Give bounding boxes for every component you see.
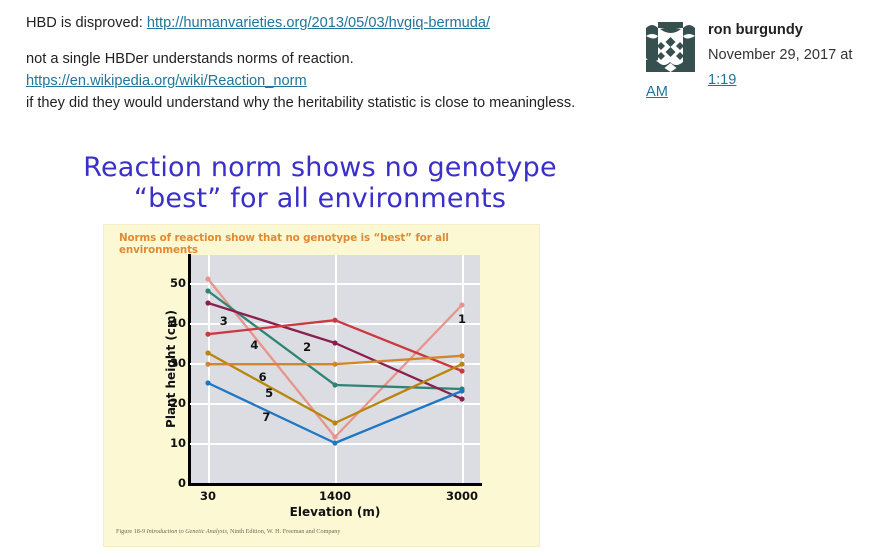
comment-text-body: HBD is disproved: http://humanvarieties.… [26, 12, 626, 128]
comment-date: November 29, 2017 at 1:19 [708, 43, 878, 93]
comment-permalink-time-tail[interactable]: AM [646, 80, 668, 105]
y-axis-tick-label: 50 [126, 276, 186, 290]
series-point-7 [205, 380, 210, 385]
reaction-norm-slide: Reaction norm shows no genotype “best” f… [26, 152, 614, 552]
y-axis-label: Plant height (cm) [164, 310, 178, 428]
series-label-5: 5 [265, 386, 273, 400]
comment-paragraph-4: if they did they would understand why th… [26, 92, 626, 114]
comment-line4-text: if they did they would understand why th… [26, 95, 575, 111]
author-text-block: ron burgundy November 29, 2017 at 1:19 [708, 18, 878, 93]
figure-credit-prefix: Figure 18-9 [116, 528, 147, 535]
x-axis-tick-label: 3000 [422, 489, 502, 503]
figure-container: Norms of reaction show that no genotype … [103, 224, 540, 547]
comment-author-meta: ron burgundy November 29, 2017 at 1:19 A… [646, 18, 878, 93]
x-axis-tick-label: 30 [168, 489, 248, 503]
series-point-5 [205, 350, 210, 355]
figure-credit-suffix: Ninth Edition, W. H. Freeman and Company [228, 528, 340, 535]
series-point-3 [332, 340, 337, 345]
comment-date-text: November 29, 2017 at [708, 47, 852, 63]
x-axis-label: Elevation (m) [190, 505, 480, 519]
identicon-avatar [646, 22, 695, 72]
series-point-3 [205, 300, 210, 305]
series-point-6 [459, 353, 464, 358]
x-axis-tick-label: 1400 [295, 489, 375, 503]
y-axis-tick-label: 10 [126, 436, 186, 450]
series-point-7 [332, 440, 337, 445]
wikipedia-reaction-norm-link[interactable]: https://en.wikipedia.org/wiki/Reaction_n… [26, 73, 307, 89]
series-point-5 [459, 362, 464, 367]
series-line-7 [208, 383, 462, 443]
series-point-2 [332, 382, 337, 387]
series-point-6 [332, 362, 337, 367]
series-label-2: 2 [303, 340, 311, 354]
series-point-1 [459, 302, 464, 307]
series-point-7 [459, 388, 464, 393]
series-label-7: 7 [262, 410, 270, 424]
comment-paragraph-3: https://en.wikipedia.org/wiki/Reaction_n… [26, 70, 626, 92]
series-point-2 [205, 288, 210, 293]
series-point-1 [205, 276, 210, 281]
figure-caption: Norms of reaction show that no genotype … [119, 232, 529, 256]
series-point-6 [205, 362, 210, 367]
y-axis-tick-label: 0 [126, 476, 186, 490]
figure-credit: Figure 18-9 Introduction to Genetic Anal… [116, 528, 340, 535]
comment-paragraph-1: HBD is disproved: http://humanvarieties.… [26, 12, 626, 34]
reaction-norm-chart: 01020304050 3014003000 1234567 Plant hei… [190, 255, 480, 483]
series-point-3 [459, 396, 464, 401]
series-point-1 [332, 434, 337, 439]
series-point-4 [332, 318, 337, 323]
series-point-5 [332, 420, 337, 425]
series-label-6: 6 [259, 370, 267, 384]
series-label-1: 1 [458, 312, 466, 326]
slide-title-line-2: “best” for all environments [26, 183, 614, 214]
series-point-4 [459, 368, 464, 373]
humanvarieties-link[interactable]: http://humanvarieties.org/2013/05/03/hvg… [147, 15, 490, 31]
series-label-3: 3 [220, 314, 228, 328]
slide-title-line-1: Reaction norm shows no genotype [26, 152, 614, 183]
series-point-4 [205, 332, 210, 337]
comment-line2-text: not a single HBDer understands norms of … [26, 51, 354, 67]
comment-permalink-time[interactable]: 1:19 [708, 72, 736, 88]
comment-container: HBD is disproved: http://humanvarieties.… [0, 0, 886, 557]
comment-line1-prefix: HBD is disproved: [26, 15, 147, 31]
chart-series-layer [190, 255, 480, 483]
comment-author-name: ron burgundy [708, 18, 878, 43]
slide-title: Reaction norm shows no genotype “best” f… [26, 152, 614, 214]
figure-credit-title: Introduction to Genetic Analysis, [147, 528, 229, 535]
comment-paragraph-2: not a single HBDer understands norms of … [26, 48, 626, 70]
series-label-4: 4 [250, 338, 258, 352]
x-axis-line [188, 483, 482, 486]
